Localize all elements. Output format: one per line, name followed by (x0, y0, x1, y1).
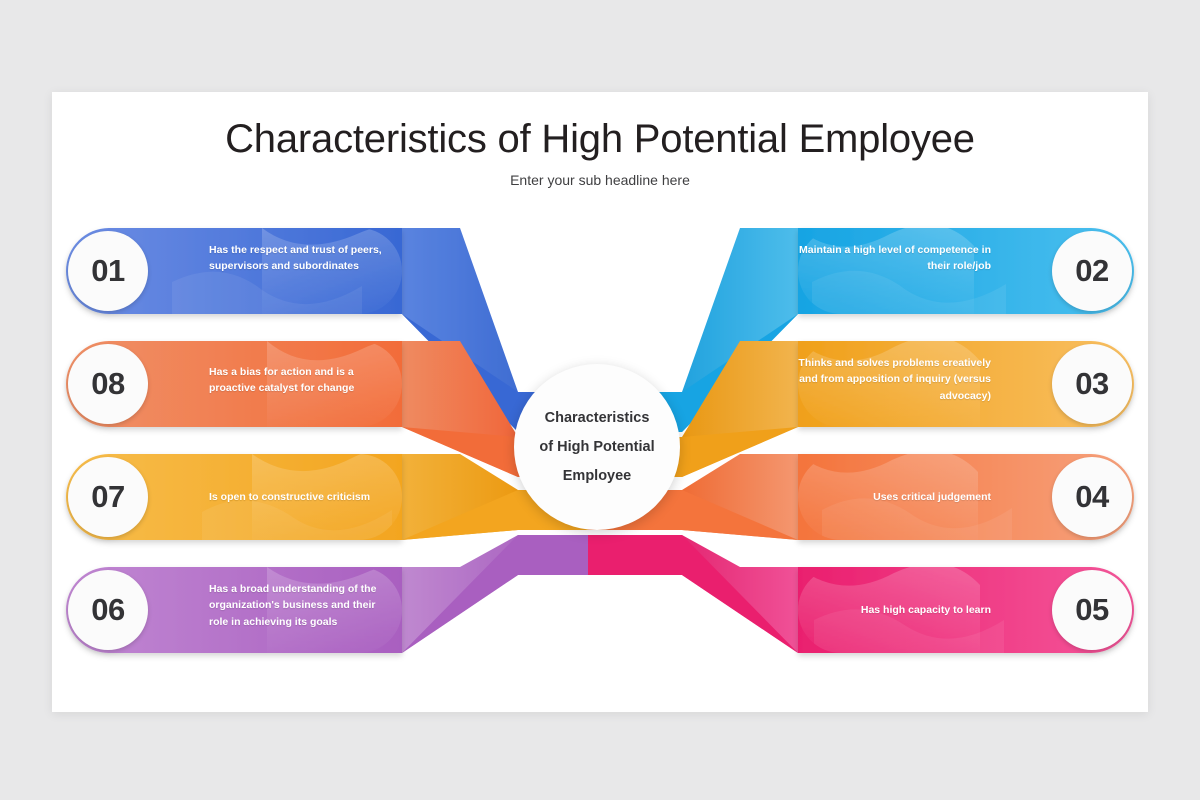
badge-05[interactable]: 05 (1052, 570, 1132, 650)
badge-04[interactable]: 04 (1052, 457, 1132, 537)
badge-08[interactable]: 08 (68, 344, 148, 424)
center-line-2: of High Potential (539, 433, 654, 462)
center-hub[interactable]: Characteristics of High Potential Employ… (514, 364, 680, 530)
center-line-1: Characteristics (539, 404, 654, 433)
connector-right-05 (588, 535, 798, 653)
badge-07[interactable]: 07 (68, 457, 148, 537)
badge-06[interactable]: 06 (68, 570, 148, 650)
badge-03[interactable]: 03 (1052, 344, 1132, 424)
connector-left-06 (402, 535, 612, 653)
center-line-3: Employee (539, 462, 654, 491)
badge-01[interactable]: 01 (68, 231, 148, 311)
slide-canvas: Characteristics of High Potential Employ… (52, 92, 1148, 712)
badge-02[interactable]: 02 (1052, 231, 1132, 311)
